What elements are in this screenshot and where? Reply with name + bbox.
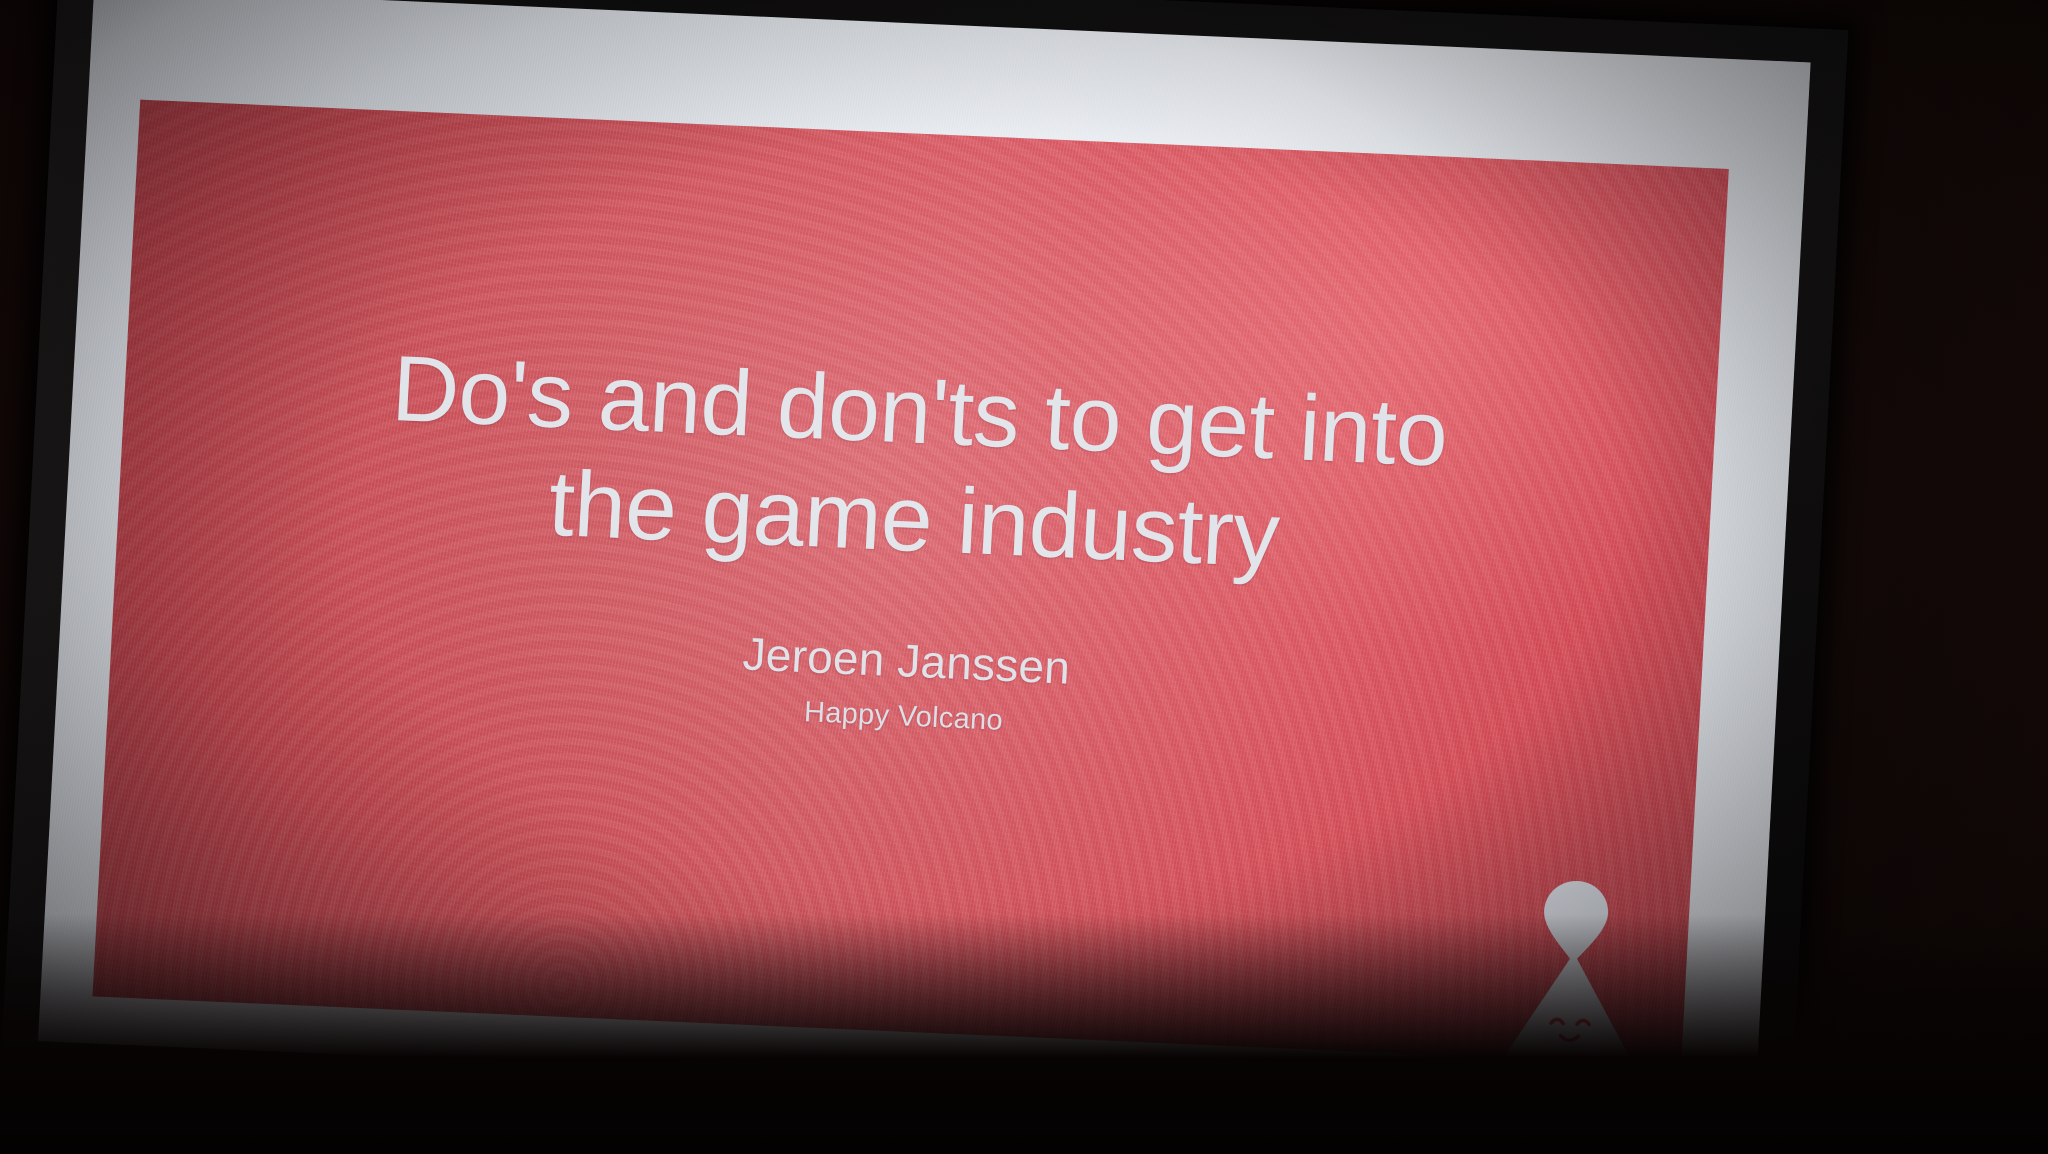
slide-title: Do's and don'ts to get into the game ind…: [117, 323, 1717, 608]
screenshot-root: Do's and don'ts to get into the game ind…: [0, 0, 2048, 1154]
slide-author-block: Jeroen Janssen Happy Volcano: [108, 599, 1702, 768]
room-bottom-shadow: [0, 914, 2048, 1154]
